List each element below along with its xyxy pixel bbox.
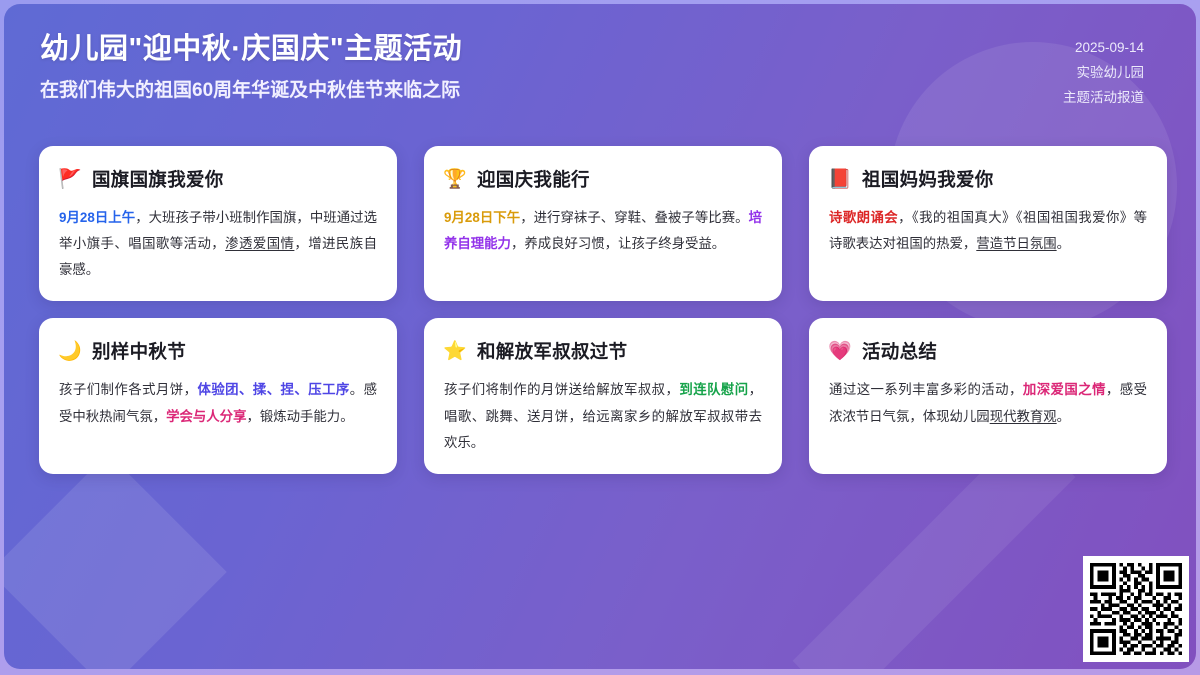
header-title-group: 幼儿园"迎中秋·庆国庆"主题活动 在我们伟大的祖国60周年华诞及中秋佳节来临之际: [40, 30, 462, 105]
activity-card-grid: 🚩国旗国旗我爱你9月28日上午，大班孩子带小班制作国旗，中班通过选举小旗手、唱国…: [39, 146, 1169, 474]
highlight-text: 诗歌朗诵会: [829, 210, 898, 225]
flag-icon: 🚩: [59, 170, 81, 189]
card-body: 孩子们制作各式月饼，体验团、揉、捏、压工序。感受中秋热闹气氛，学会与人分享，锻炼…: [59, 377, 377, 429]
card-header: 🚩国旗国旗我爱你: [59, 166, 377, 192]
book-icon: 📕: [829, 170, 851, 189]
decorative-diamond: [4, 453, 227, 669]
underlined-text: 现代教育观: [990, 409, 1057, 424]
heart-icon: 💗: [829, 342, 851, 361]
body-text: ，锻炼动手能力。: [246, 409, 353, 424]
card-header: ⭐和解放军叔叔过节: [444, 338, 762, 364]
page-title: 幼儿园"迎中秋·庆国庆"主题活动: [40, 30, 462, 69]
trophy-icon: 🏆: [444, 170, 466, 189]
card-title: 祖国妈妈我爱你: [862, 166, 994, 192]
body-text: 通过这一系列丰富多彩的活动，: [829, 382, 1023, 397]
body-text: 孩子们制作各式月饼，: [59, 382, 197, 397]
card-header: 🏆迎国庆我能行: [444, 166, 762, 192]
card-title: 和解放军叔叔过节: [477, 338, 627, 364]
underlined-text: 渗透爱国情: [225, 236, 294, 251]
activity-card[interactable]: 🚩国旗国旗我爱你9月28日上午，大班孩子带小班制作国旗，中班通过选举小旗手、唱国…: [39, 146, 397, 301]
activity-card[interactable]: 📕祖国妈妈我爱你诗歌朗诵会，《我的祖国真大》《祖国祖国我爱你》等诗歌表达对祖国的…: [809, 146, 1167, 301]
page-header: 幼儿园"迎中秋·庆国庆"主题活动 在我们伟大的祖国60周年华诞及中秋佳节来临之际…: [4, 4, 1196, 134]
activity-card[interactable]: 💗活动总结通过这一系列丰富多彩的活动，加深爱国之情，感受浓浓节日气氛，体现幼儿园…: [809, 318, 1167, 473]
report-category: 主题活动报道: [1063, 88, 1144, 109]
moon-icon: 🌙: [59, 342, 81, 361]
activity-card[interactable]: 🌙别样中秋节孩子们制作各式月饼，体验团、揉、捏、压工序。感受中秋热闹气氛，学会与…: [39, 318, 397, 473]
page-subtitle: 在我们伟大的祖国60周年华诞及中秋佳节来临之际: [40, 77, 462, 105]
card-title: 活动总结: [862, 338, 937, 364]
activity-card[interactable]: ⭐和解放军叔叔过节孩子们将制作的月饼送给解放军叔叔，到连队慰问，唱歌、跳舞、送月…: [424, 318, 782, 473]
main-panel: 幼儿园"迎中秋·庆国庆"主题活动 在我们伟大的祖国60周年华诞及中秋佳节来临之际…: [4, 4, 1196, 669]
card-title: 迎国庆我能行: [477, 166, 590, 192]
body-text: ，养成良好习惯，让孩子终身受益。: [511, 236, 725, 251]
body-text: 。: [1057, 236, 1070, 251]
card-body: 诗歌朗诵会，《我的祖国真大》《祖国祖国我爱你》等诗歌表达对祖国的热爱，营造节日氛…: [829, 205, 1147, 257]
underlined-text: 营造节日氛围: [976, 236, 1056, 251]
qr-code[interactable]: [1083, 556, 1189, 662]
card-header: 💗活动总结: [829, 338, 1147, 364]
card-body: 9月28日上午，大班孩子带小班制作国旗，中班通过选举小旗手、唱国歌等活动，渗透爱…: [59, 205, 377, 283]
report-date: 2025-09-14: [1075, 38, 1144, 59]
qr-code-image: [1090, 563, 1182, 655]
highlight-text: 体验团、揉、捏、压工序: [197, 382, 349, 397]
card-header: 🌙别样中秋节: [59, 338, 377, 364]
card-header: 📕祖国妈妈我爱你: [829, 166, 1147, 192]
highlight-text: 到连队慰问: [679, 382, 748, 397]
body-text: 。: [1057, 409, 1070, 424]
body-text: ，进行穿袜子、穿鞋、叠被子等比赛。: [520, 210, 748, 225]
card-title: 别样中秋节: [92, 338, 186, 364]
body-text: 孩子们将制作的月饼送给解放军叔叔，: [444, 382, 679, 397]
card-body: 通过这一系列丰富多彩的活动，加深爱国之情，感受浓浓节日气氛，体现幼儿园现代教育观…: [829, 377, 1147, 429]
card-body: 孩子们将制作的月饼送给解放军叔叔，到连队慰问，唱歌、跳舞、送月饼，给远离家乡的解…: [444, 377, 762, 455]
header-meta-group: 2025-09-14 实验幼儿园 主题活动报道: [1063, 30, 1144, 109]
presentation-canvas: 幼儿园"迎中秋·庆国庆"主题活动 在我们伟大的祖国60周年华诞及中秋佳节来临之际…: [0, 0, 1200, 675]
highlight-text: 9月28日上午: [59, 210, 135, 225]
card-title: 国旗国旗我爱你: [92, 166, 224, 192]
organization-name: 实验幼儿园: [1077, 63, 1145, 84]
card-body: 9月28日下午，进行穿袜子、穿鞋、叠被子等比赛。培养自理能力，养成良好习惯，让孩…: [444, 205, 762, 257]
activity-card[interactable]: 🏆迎国庆我能行9月28日下午，进行穿袜子、穿鞋、叠被子等比赛。培养自理能力，养成…: [424, 146, 782, 301]
highlight-text: 学会与人分享: [166, 409, 246, 424]
highlight-text: 9月28日下午: [444, 210, 520, 225]
star-icon: ⭐: [444, 342, 466, 361]
highlight-text: 加深爱国之情: [1023, 382, 1106, 397]
